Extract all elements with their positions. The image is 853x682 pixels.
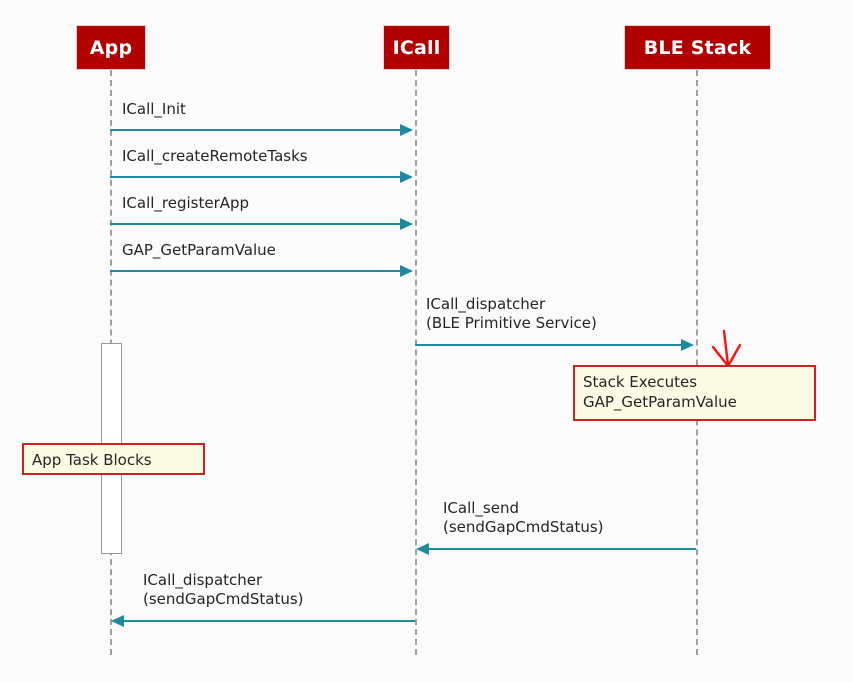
message-line-icall-send — [429, 548, 696, 550]
note-stack-executes: Stack Executes GAP_GetParamValue — [573, 365, 816, 421]
arrowhead-icall-dispatcher-ble-primitive — [681, 339, 694, 351]
note-app-task-blocks: App Task Blocks — [22, 443, 205, 475]
message-line-icall-createremotetasks — [110, 176, 402, 178]
lifeline-ble — [696, 70, 698, 655]
message-line-icall-registerapp — [110, 223, 402, 225]
participant-ble-stack[interactable]: BLE Stack — [624, 25, 771, 70]
arrowhead-icall-dispatcher-sendgapcmdstatus — [111, 615, 124, 627]
lifeline-icall — [415, 70, 417, 655]
arrowhead-icall-init — [400, 124, 413, 136]
participant-ble-stack-label: BLE Stack — [644, 37, 751, 59]
participant-app[interactable]: App — [76, 25, 146, 70]
message-label-icall-registerapp: ICall_registerApp — [122, 194, 249, 213]
message-label-gap-getparamvalue: GAP_GetParamValue — [122, 241, 276, 260]
message-label-icall-dispatcher-sendgapcmdstatus: ICall_dispatcher (sendGapCmdStatus) — [143, 571, 304, 609]
message-label-icall-init: ICall_Init — [122, 100, 186, 119]
message-line-gap-getparamvalue — [110, 270, 402, 272]
arrowhead-icall-createremotetasks — [400, 171, 413, 183]
message-line-icall-dispatcher-ble-primitive — [415, 344, 683, 346]
participant-icall-label: ICall — [393, 37, 441, 59]
arrowhead-gap-getparamvalue — [400, 265, 413, 277]
message-label-icall-createremotetasks: ICall_createRemoteTasks — [122, 147, 308, 166]
sequence-diagram-canvas: App ICall BLE Stack ICall_Init ICall_cre… — [0, 0, 853, 682]
participant-icall[interactable]: ICall — [383, 25, 450, 70]
participant-app-label: App — [90, 37, 133, 59]
message-line-icall-dispatcher-sendgapcmdstatus — [124, 620, 415, 622]
arrowhead-icall-registerapp — [400, 218, 413, 230]
arrowhead-icall-send — [416, 543, 429, 555]
message-line-icall-init — [110, 129, 402, 131]
message-label-icall-dispatcher-ble-primitive: ICall_dispatcher (BLE Primitive Service) — [426, 295, 597, 333]
message-label-icall-send: ICall_send (sendGapCmdStatus) — [443, 499, 604, 537]
